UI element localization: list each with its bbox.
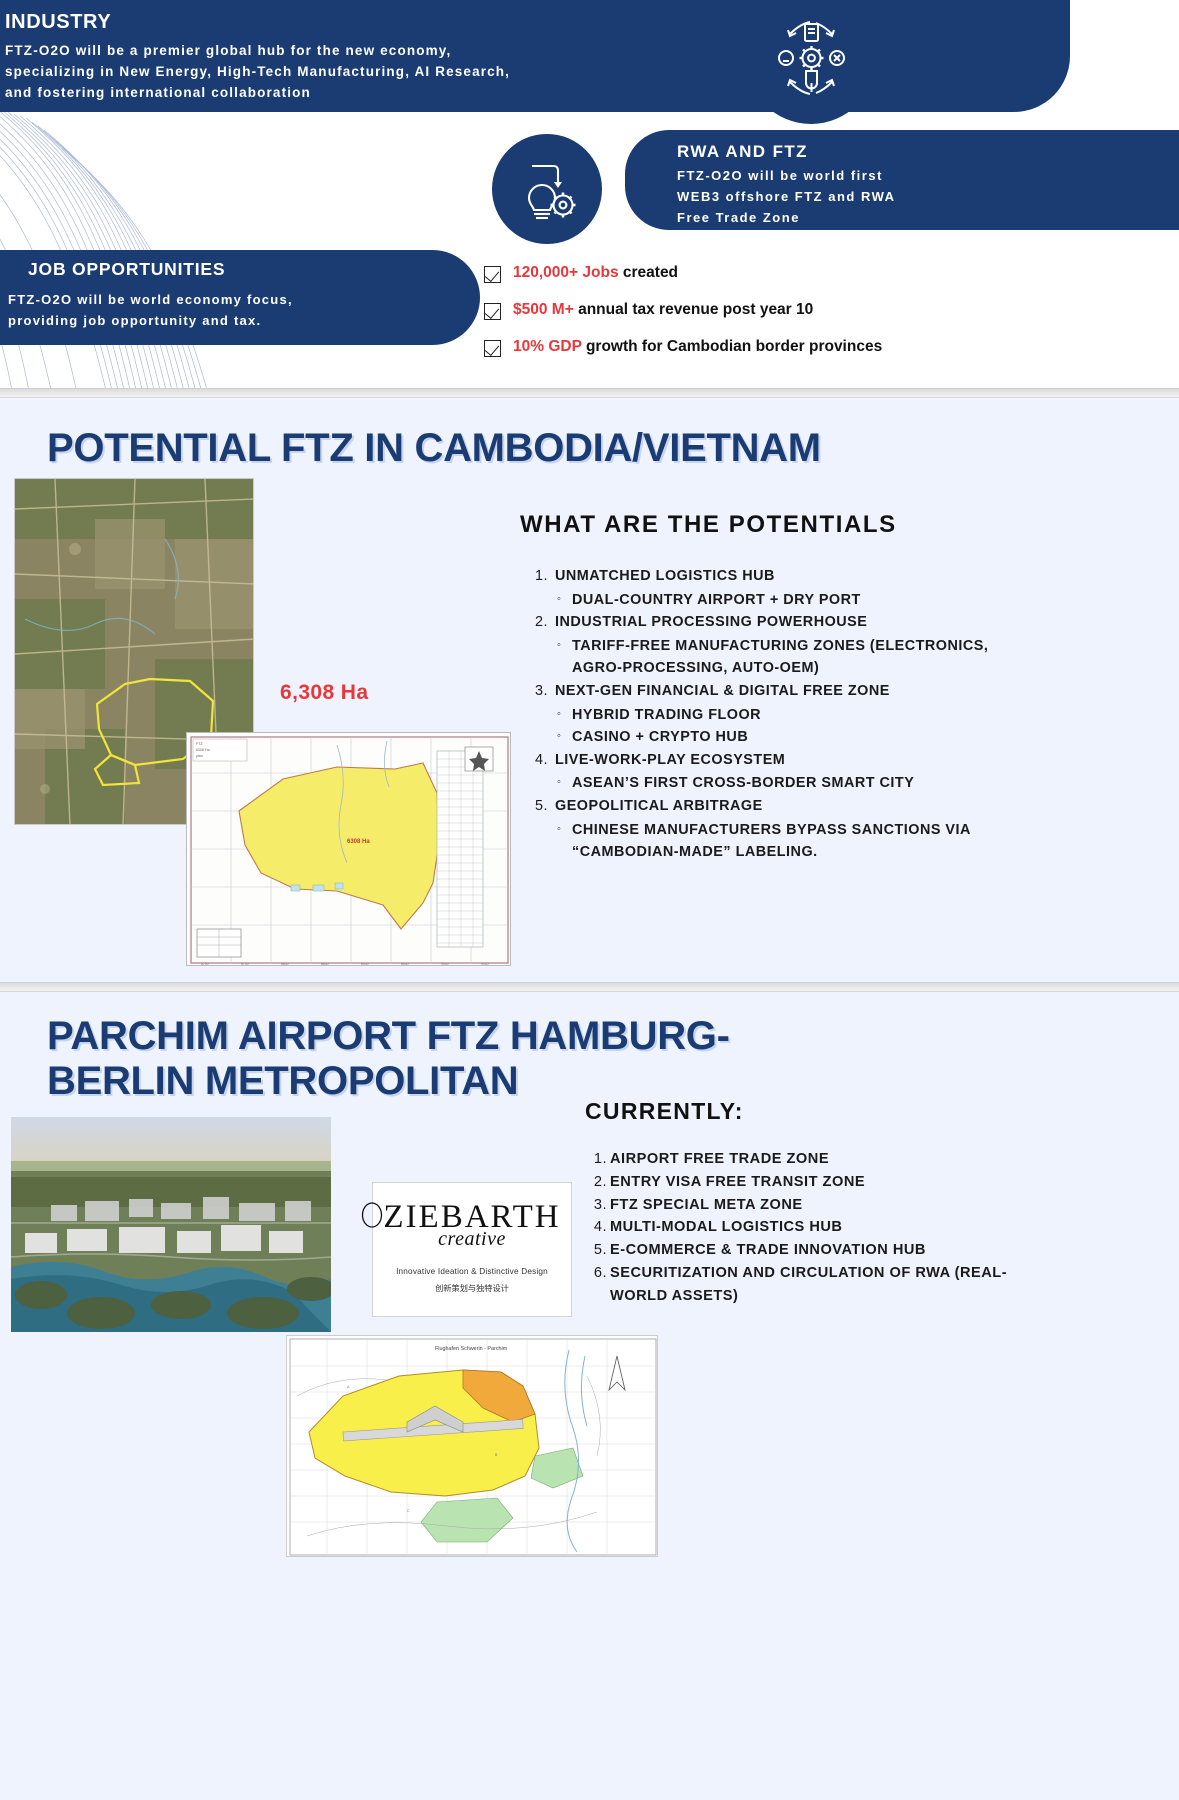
rwa-title: RWA AND FTZ: [677, 142, 1179, 162]
stats-list: 120,000+ Jobs created $500 M+ annual tax…: [484, 264, 1084, 375]
svg-text:FTZ: FTZ: [196, 742, 203, 746]
area-label: 6,308 Ha: [280, 681, 368, 705]
ziebarth-wordmark: ZIEBARTH: [383, 1199, 560, 1236]
innovation-gear-icon: [746, 0, 876, 124]
stat-highlight: 120,000+ Jobs: [513, 264, 619, 281]
checkbox-icon: [484, 303, 501, 320]
job-opportunities-panel: JOB OPPORTUNITIES FTZ-O2O will be world …: [0, 250, 480, 345]
list-number: 3.: [593, 1194, 610, 1217]
list-text: FTZ SPECIAL META ZONE: [610, 1194, 803, 1217]
list-subtext: ASEAN’S FIRST CROSS-BORDER SMART CITY: [572, 772, 914, 795]
list-subtext: CHINESE MANUFACTURERS BYPASS SANCTIONS V…: [572, 819, 997, 864]
list-text: MULTI-MODAL LOGISTICS HUB: [610, 1216, 842, 1239]
site-plan-image: 6308 Ha: [186, 732, 511, 966]
aerial-render-image: [11, 1117, 331, 1332]
list-text: E-COMMERCE & TRADE INNOVATION HUB: [610, 1239, 926, 1262]
svg-text:8700: 8700: [201, 962, 209, 966]
svg-text:8900: 8900: [361, 962, 369, 966]
cambodia-section-title: POTENTIAL FTZ IN CAMBODIA/VIETNAM: [47, 426, 821, 471]
list-item: 5. GEOPOLITICAL ARBITRAGE: [527, 795, 997, 818]
industry-body-line: specializing in New Energy, High-Tech Ma…: [5, 62, 1070, 83]
stat-rest: annual tax revenue post year 10: [574, 301, 814, 318]
job-body-line: FTZ-O2O will be world economy focus,: [8, 290, 480, 311]
list-item: 5. E-COMMERCE & TRADE INNOVATION HUB: [593, 1239, 1013, 1262]
stat-text: 120,000+ Jobs created: [513, 264, 678, 281]
stat-highlight: 10% GDP: [513, 338, 582, 355]
list-number: 5.: [593, 1239, 610, 1262]
cambodia-vietnam-section: POTENTIAL FTZ IN CAMBODIA/VIETNAM: [0, 398, 1179, 982]
currently-list: 1. AIRPORT FREE TRADE ZONE 2. ENTRY VISA…: [593, 1148, 1013, 1307]
svg-text:Flughafen Schwerin - Parchim: Flughafen Schwerin - Parchim: [435, 1346, 508, 1352]
infographic-header-section: INDUSTRY FTZ-O2O will be a premier globa…: [0, 0, 1179, 398]
industry-body: FTZ-O2O will be a premier global hub for…: [0, 41, 1070, 104]
list-text: GEOPOLITICAL ARBITRAGE: [555, 795, 763, 818]
list-subitem: ◦ CHINESE MANUFACTURERS BYPASS SANCTIONS…: [557, 819, 997, 864]
ziebarth-text: ZIEBARTH: [383, 1199, 560, 1235]
stat-row: 120,000+ Jobs created: [484, 264, 1084, 283]
list-item: 1. AIRPORT FREE TRADE ZONE: [593, 1148, 1013, 1171]
svg-text:C: C: [407, 1509, 410, 1513]
parchim-title-line2: BERLIN METROPOLITAN: [47, 1059, 977, 1104]
stat-rest: created: [619, 264, 678, 281]
logo-tagline-cn: 创新策划与独特设计: [373, 1282, 571, 1294]
list-text: ENTRY VISA FREE TRANSIT ZONE: [610, 1171, 865, 1194]
svg-text:8950: 8950: [401, 962, 409, 966]
stat-text: 10% GDP growth for Cambodian border prov…: [513, 338, 882, 355]
list-number: 3.: [527, 680, 555, 703]
circle-bullet-icon: ◦: [557, 589, 572, 612]
list-subtext: DUAL-COUNTRY AIRPORT + DRY PORT: [572, 589, 861, 612]
job-body: FTZ-O2O will be world economy focus, pro…: [0, 290, 480, 332]
parchim-airport-zone-map: Flughafen Schwerin - Parchim: [286, 1335, 658, 1557]
list-number: 1.: [527, 565, 555, 588]
rwa-body-line: Free Trade Zone: [677, 207, 1179, 228]
stat-text: $500 M+ annual tax revenue post year 10: [513, 301, 813, 318]
rwa-body-line: WEB3 offshore FTZ and RWA: [677, 186, 1179, 207]
currently-heading: CURRENTLY:: [585, 1098, 744, 1125]
list-subitem: ◦ HYBRID TRADING FLOOR: [557, 704, 997, 727]
list-number: 4.: [593, 1216, 610, 1239]
list-item: 3. FTZ SPECIAL META ZONE: [593, 1194, 1013, 1217]
list-subitem: ◦ CASINO + CRYPTO HUB: [557, 726, 997, 749]
svg-text:8800: 8800: [281, 962, 289, 966]
z-circle-icon: [361, 1201, 383, 1231]
svg-text:8850: 8850: [321, 962, 329, 966]
potentials-heading: WHAT ARE THE POTENTIALS: [520, 511, 897, 539]
logo-tagline-en: Innovative Ideation & Distinctive Design: [373, 1267, 571, 1276]
circle-bullet-icon: ◦: [557, 726, 572, 749]
job-body-line: providing job opportunity and tax.: [8, 311, 480, 332]
stat-rest: growth for Cambodian border provinces: [582, 338, 883, 355]
list-text: NEXT-GEN FINANCIAL & DIGITAL FREE ZONE: [555, 680, 890, 703]
stat-highlight: $500 M+: [513, 301, 574, 318]
stat-row: 10% GDP growth for Cambodian border prov…: [484, 338, 1084, 357]
list-subitem: ◦ TARIFF-FREE MANUFACTURING ZONES (ELECT…: [557, 635, 997, 680]
industry-title: INDUSTRY: [0, 11, 1070, 34]
section-divider: [0, 388, 1179, 398]
list-item: 6. SECURITIZATION AND CIRCULATION OF RWA…: [593, 1262, 1013, 1308]
svg-text:6308 Ha: 6308 Ha: [196, 748, 210, 752]
section-divider: [0, 982, 1179, 992]
svg-text:plan: plan: [196, 754, 203, 758]
list-text: SECURITIZATION AND CIRCULATION OF RWA (R…: [610, 1262, 1013, 1308]
list-subtext: TARIFF-FREE MANUFACTURING ZONES (ELECTRO…: [572, 635, 997, 680]
rwa-ftz-panel: RWA AND FTZ FTZ-O2O will be world first …: [625, 130, 1179, 230]
job-title: JOB OPPORTUNITIES: [0, 259, 480, 280]
list-number: 4.: [527, 749, 555, 772]
list-subtext: CASINO + CRYPTO HUB: [572, 726, 748, 749]
svg-text:8750: 8750: [241, 962, 249, 966]
circle-bullet-icon: ◦: [557, 704, 572, 727]
circle-bullet-icon: ◦: [557, 772, 572, 795]
svg-text:9050: 9050: [481, 962, 489, 966]
industry-body-line: and fostering international collaboratio…: [5, 83, 1070, 104]
ziebarth-logo-card: ZIEBARTH creative Innovative Ideation & …: [372, 1182, 572, 1317]
list-number: 5.: [527, 795, 555, 818]
list-subitem: ◦ DUAL-COUNTRY AIRPORT + DRY PORT: [557, 589, 997, 612]
potentials-list: 1. UNMATCHED LOGISTICS HUB ◦ DUAL-COUNTR…: [527, 565, 997, 864]
parchim-section-title: PARCHIM AIRPORT FTZ HAMBURG- BERLIN METR…: [47, 1014, 977, 1104]
industry-body-line: FTZ-O2O will be a premier global hub for…: [5, 41, 1070, 62]
list-text: AIRPORT FREE TRADE ZONE: [610, 1148, 829, 1171]
lightbulb-gear-icon: [492, 134, 602, 244]
checkbox-icon: [484, 266, 501, 283]
svg-text:9000: 9000: [441, 962, 449, 966]
list-item: 4. LIVE-WORK-PLAY ECOSYSTEM: [527, 749, 997, 772]
checkbox-icon: [484, 340, 501, 357]
parchim-title-line1: PARCHIM AIRPORT FTZ HAMBURG-: [47, 1014, 977, 1059]
list-item: 3. NEXT-GEN FINANCIAL & DIGITAL FREE ZON…: [527, 680, 997, 703]
circle-bullet-icon: ◦: [557, 635, 572, 680]
circle-bullet-icon: ◦: [557, 819, 572, 864]
rwa-body-line: FTZ-O2O will be world first: [677, 165, 1179, 186]
list-text: UNMATCHED LOGISTICS HUB: [555, 565, 775, 588]
parchim-section: PARCHIM AIRPORT FTZ HAMBURG- BERLIN METR…: [0, 992, 1179, 1800]
list-text: LIVE-WORK-PLAY ECOSYSTEM: [555, 749, 785, 772]
industry-panel: INDUSTRY FTZ-O2O will be a premier globa…: [0, 0, 1070, 112]
stat-row: $500 M+ annual tax revenue post year 10: [484, 301, 1084, 320]
list-item: 2. ENTRY VISA FREE TRANSIT ZONE: [593, 1171, 1013, 1194]
list-subtext: HYBRID TRADING FLOOR: [572, 704, 761, 727]
svg-text:6308 Ha: 6308 Ha: [347, 839, 370, 845]
list-number: 2.: [527, 611, 555, 634]
list-text: INDUSTRIAL PROCESSING POWERHOUSE: [555, 611, 867, 634]
list-item: 2. INDUSTRIAL PROCESSING POWERHOUSE: [527, 611, 997, 634]
list-number: 6.: [593, 1262, 610, 1308]
list-number: 1.: [593, 1148, 610, 1171]
rwa-body: FTZ-O2O will be world first WEB3 offshor…: [677, 165, 1179, 228]
list-item: 1. UNMATCHED LOGISTICS HUB: [527, 565, 997, 588]
list-subitem: ◦ ASEAN’S FIRST CROSS-BORDER SMART CITY: [557, 772, 997, 795]
list-number: 2.: [593, 1171, 610, 1194]
list-item: 4. MULTI-MODAL LOGISTICS HUB: [593, 1216, 1013, 1239]
